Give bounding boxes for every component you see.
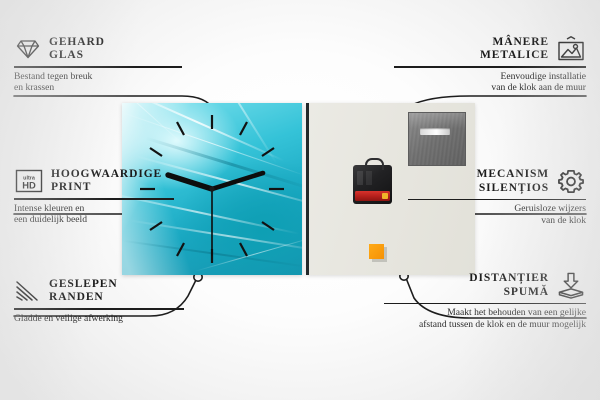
diamond-icon (14, 37, 42, 61)
feature-hd-print: ultra HD HOOGWAARDIGE PRINT Intense kleu… (14, 168, 190, 226)
feature-metal-hands: MÂNERE METALICE Eenvoudige installatie v… (386, 36, 586, 94)
hanger-slot (420, 128, 450, 135)
feature-subtitle: Gladde en veilige afwerking (14, 313, 190, 325)
feature-divider (394, 66, 586, 67)
feature-subtitle: Geruisloze wijzers van de klok (400, 203, 586, 226)
infographic-canvas: GEHARD GLAS Bestand tegen breuk en krass… (0, 0, 600, 400)
feature-title: DISTANȚIER SPUMĂ (469, 272, 549, 298)
feature-title: GEHARD GLAS (49, 36, 105, 62)
gear-icon (556, 168, 586, 195)
feature-tempered-glass: GEHARD GLAS Bestand tegen breuk en krass… (14, 36, 190, 94)
clock-center-cap (209, 186, 214, 191)
svg-text:HD: HD (22, 180, 36, 191)
feature-divider (14, 308, 184, 309)
feature-divider (14, 66, 182, 67)
minute-hand (212, 173, 263, 189)
mechanism-detail (357, 171, 385, 185)
feature-divider (384, 303, 586, 304)
framed-picture-icon (556, 36, 586, 62)
feature-title: MECANISM SILENȚIOS (477, 168, 549, 194)
feature-title: HOOGWAARDIGE PRINT (51, 168, 162, 194)
feature-title: GESLEPEN RANDEN (49, 278, 118, 304)
ultra-hd-icon: ultra HD (14, 168, 44, 194)
feature-subtitle: Bestand tegen breuk en krassen (14, 71, 190, 94)
beveled-edges-icon (14, 279, 42, 303)
aa-battery (355, 191, 390, 201)
mechanism-hanging-loop (365, 158, 384, 170)
feature-divider (14, 198, 174, 199)
feature-divider (408, 199, 586, 200)
feature-title: MÂNERE METALICE (480, 36, 549, 62)
feature-silent-mechanism: MECANISM SILENȚIOS Geruisloze wijzers va… (400, 168, 586, 227)
feature-foam-spacer: DISTANȚIER SPUMĂ Maakt het behouden van … (376, 272, 586, 331)
press-down-icon (556, 272, 586, 299)
metal-hanger-plate (408, 112, 466, 166)
feature-polished-edges: GESLEPEN RANDEN Gladde en veilige afwerk… (14, 278, 190, 324)
feature-subtitle: Intense kleuren en een duidelijk beeld (14, 203, 190, 226)
foam-spacer-block (369, 244, 384, 259)
feature-subtitle: Maakt het behouden van een gelijke afsta… (376, 307, 586, 330)
feature-subtitle: Eenvoudige installatie van de klok aan d… (386, 71, 586, 94)
clock-mechanism (353, 165, 392, 204)
